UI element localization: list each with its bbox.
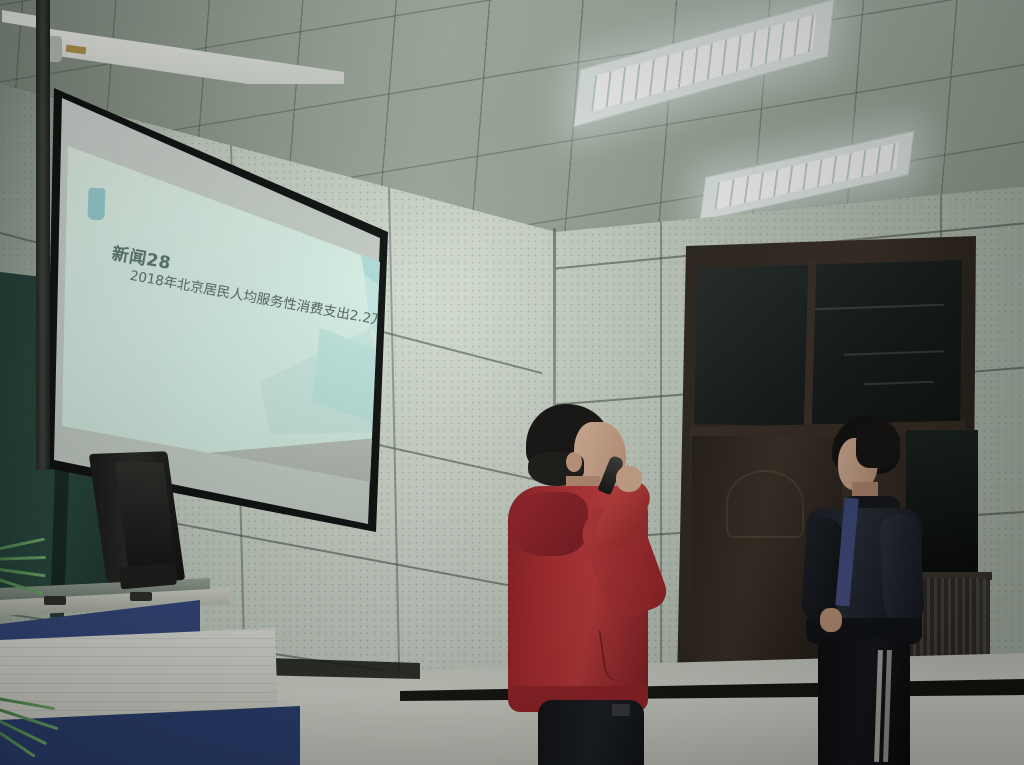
person1-hand (616, 466, 642, 492)
person1-hood (510, 492, 588, 556)
slide-accent-badge (87, 188, 105, 221)
plant-frond (0, 538, 45, 553)
glass-reflection (844, 350, 944, 355)
potted-plant-lower (0, 668, 90, 758)
person1-hoodie-pocket (599, 626, 642, 683)
person2-hair-front (856, 420, 900, 468)
person1-pant-tag (612, 704, 630, 716)
person2-hand (820, 608, 842, 632)
wall-pipe (36, 0, 50, 470)
person2-sleeve-left (800, 517, 843, 621)
person-second-student (790, 410, 940, 765)
person-presenter (500, 400, 690, 765)
classroom-photo: 新闻28 2018年北京居民人均服务性消费支出2.2万元。 (0, 0, 1024, 765)
potted-plant-upper (0, 530, 76, 650)
plant-frond (0, 694, 55, 710)
glass-reflection (864, 381, 934, 385)
plant-frond (0, 566, 46, 577)
glass-reflection (814, 304, 944, 311)
door-transom-window (694, 260, 962, 430)
plant-frond (0, 574, 44, 595)
person1-ear (566, 452, 582, 472)
person2-sleeve-right (879, 513, 925, 623)
person2-track-pants (818, 638, 910, 765)
lectern-latch[interactable] (130, 592, 152, 601)
plant-frond (0, 556, 46, 561)
